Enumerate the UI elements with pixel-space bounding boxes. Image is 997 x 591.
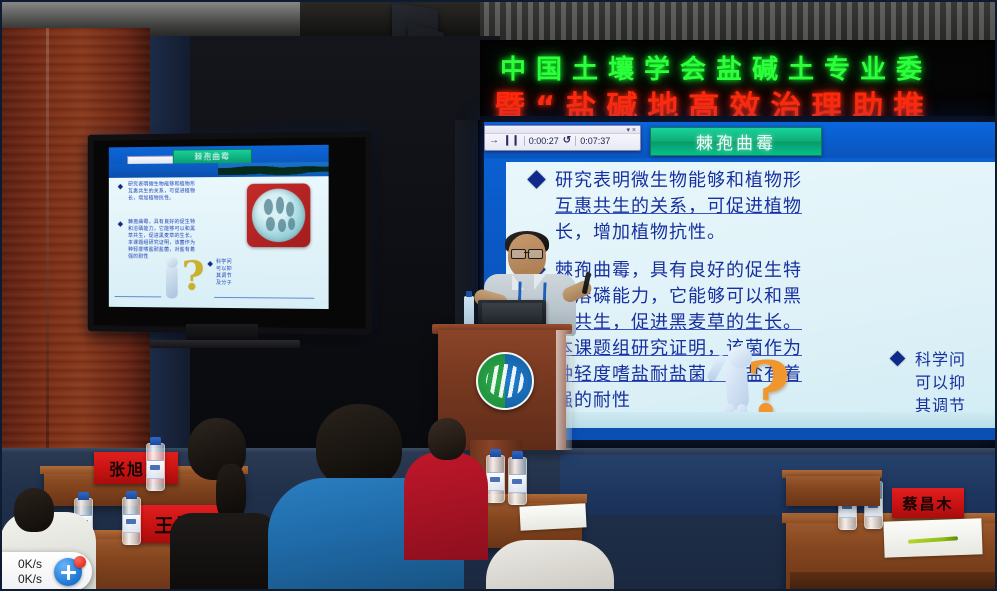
tv-thinking-person-clipart-icon: ? — [162, 255, 207, 303]
notification-badge[interactable] — [74, 556, 86, 568]
tv-stand — [186, 324, 258, 340]
podium-light-edge — [556, 330, 572, 450]
tv-slide-content: 研究表明微生物能够和植物形 互惠共生的关系，可促进植物 长，增加植物抗性。 棘孢… — [109, 176, 329, 309]
podium-water-bottle — [464, 296, 474, 326]
pause-icon[interactable]: ❙❙ — [503, 136, 520, 146]
tv-slide-divider — [214, 297, 314, 299]
tv-slide-divider — [115, 296, 161, 297]
bullet-diamond-icon — [118, 184, 123, 190]
petri-dish-image — [247, 183, 310, 247]
tv-screen: 棘孢曲霉 研究表明微生物能够和植物形 互惠共生的关系，可促进植物 长，增加植物抗… — [93, 137, 365, 329]
table-front-panel — [790, 572, 997, 591]
tv-slide: 棘孢曲霉 研究表明微生物能够和植物形 互惠共生的关系，可促进植物 长，增加植物抗… — [109, 145, 329, 309]
play-icon[interactable]: → — [489, 136, 499, 146]
screenshot-root: 中国土壤学会盐碱土专业委 暨“盐碱地高效治理助推 棘孢曲霉 ▾ × → ❙❙ 0… — [0, 0, 997, 591]
water-bottle — [122, 497, 141, 545]
elapsed-time: 0:00:27 — [524, 136, 559, 146]
attendee — [486, 540, 606, 591]
bullet-diamond-icon — [207, 261, 213, 267]
wall-corner-edge — [46, 28, 49, 458]
water-bottle — [508, 457, 527, 505]
total-time: 0:07:37 — [575, 136, 610, 146]
upload-rate: 0K/s — [18, 557, 42, 572]
ceiling-slats — [440, 0, 997, 44]
culture-plate-icon — [252, 189, 305, 243]
attendee — [404, 440, 484, 560]
led-banner: 中国土壤学会盐碱土专业委 暨“盐碱地高效治理助推 — [480, 40, 997, 118]
tv-base-shelf — [150, 340, 300, 348]
name-placard: 张旭东 — [94, 452, 178, 484]
name-placard: 蔡昌木 — [892, 488, 964, 518]
wall-mounted-tv: 棘孢曲霉 研究表明微生物能够和植物形 互惠共生的关系，可促进植物 长，增加植物抗… — [88, 131, 372, 335]
media-playback-toolbar[interactable]: ▾ × → ❙❙ 0:00:27 ↺ 0:07:37 — [484, 125, 641, 151]
laptop-screen — [482, 303, 542, 323]
papers — [519, 503, 586, 530]
bullet-diamond-icon — [527, 170, 545, 188]
slide-title: 棘孢曲霉 — [696, 129, 776, 154]
led-banner-line-2: 暨“盐碱地高效治理助推 — [494, 82, 934, 118]
slide-bottom-band — [506, 412, 997, 428]
question-mark-icon: ? — [182, 257, 205, 297]
bullet-diamond-icon — [890, 351, 906, 367]
audience-table-right-back — [786, 476, 880, 506]
water-bottle — [486, 455, 505, 503]
attendee — [170, 418, 270, 591]
slide-title-box: 棘孢曲霉 — [650, 127, 822, 156]
water-bottle — [146, 443, 165, 491]
tv-bullet-1-text: 研究表明微生物能够和植物形 互惠共生的关系，可促进植物 长，增加植物抗性。 — [128, 181, 195, 202]
glasses-icon — [511, 249, 543, 257]
tv-sub-bullet-text: 科学问 可以抑 其调节 及分子 — [216, 259, 232, 287]
podium-emblem-icon — [476, 352, 534, 410]
replay-icon[interactable]: ↺ — [563, 136, 571, 146]
tv-banner-trees-icon — [218, 162, 329, 177]
placard-name: 蔡昌木 — [902, 493, 953, 514]
download-rate: 0K/s — [18, 572, 42, 587]
bullet-diamond-icon — [118, 221, 123, 227]
led-banner-line-1: 中国土壤学会盐碱土专业委 — [500, 49, 932, 86]
bullet-1-text: 研究表明微生物能够和植物形 互惠共生的关系，可促进植物 长，增加植物抗性。 — [555, 168, 802, 246]
